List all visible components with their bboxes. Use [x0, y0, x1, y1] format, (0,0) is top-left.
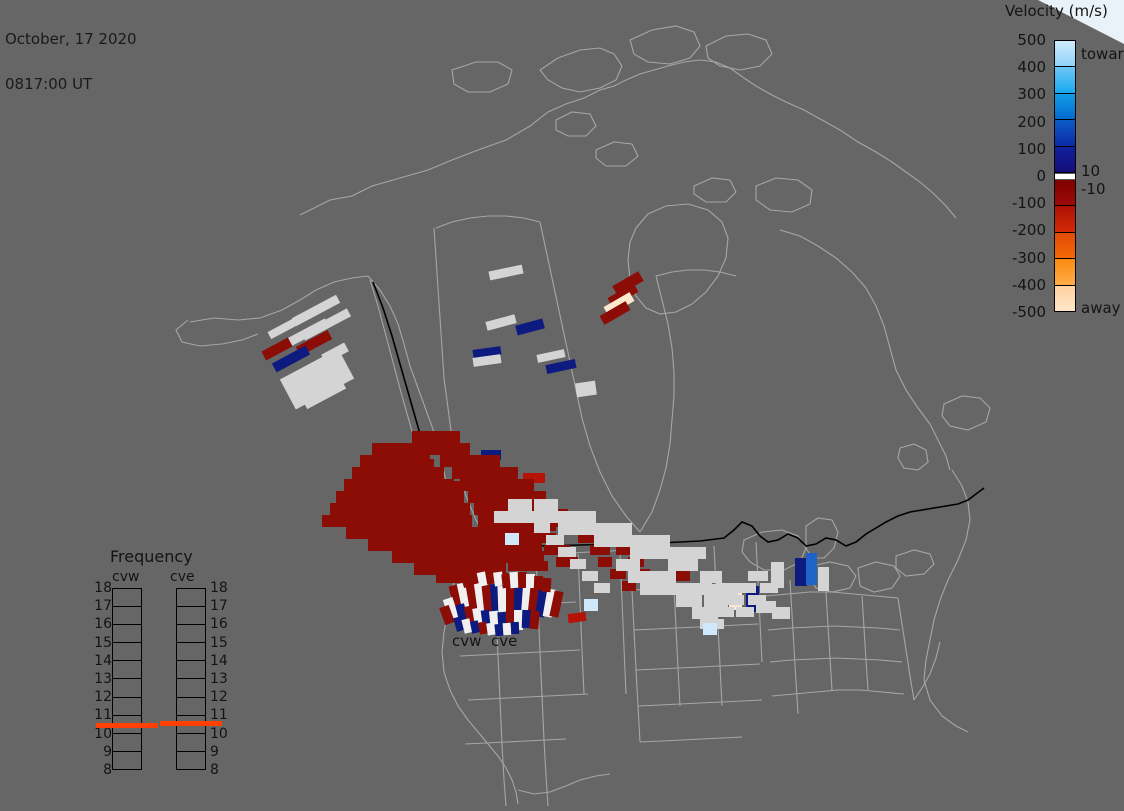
- radar-cell: [584, 599, 598, 611]
- frequency-cell: [177, 752, 205, 769]
- velocity-band-3: [1055, 120, 1075, 146]
- frequency-column-header-cve: cve: [170, 570, 195, 584]
- radar-cell: [545, 359, 576, 374]
- velocity-band-8: [1055, 259, 1075, 285]
- frequency-column-cve: [176, 588, 206, 770]
- radar-cell: [818, 567, 829, 591]
- frequency-cell: [177, 734, 205, 752]
- radar-cell: [570, 511, 596, 523]
- velocity-band-1: [1055, 67, 1075, 93]
- radar-map-canvas: October, 17 2020 0817:00 UT cvw cve Velo…: [0, 0, 1124, 811]
- velocity-zero-lower-label: -10: [1081, 182, 1106, 197]
- radar-cell: [520, 511, 546, 523]
- radar-cell: [598, 557, 612, 567]
- frequency-tick-13: 13: [210, 672, 228, 686]
- timestamp-date: October, 17 2020: [5, 32, 137, 47]
- radar-cell: [680, 547, 706, 559]
- frequency-tick-13: 13: [94, 672, 112, 686]
- frequency-tick-16: 16: [210, 617, 228, 631]
- frequency-cell: [177, 698, 205, 716]
- frequency-cell: [113, 643, 141, 661]
- radar-cell: [618, 535, 646, 547]
- frequency-tick-9: 9: [103, 745, 112, 759]
- timestamp: October, 17 2020 0817:00 UT: [5, 2, 137, 122]
- radar-cell: [358, 497, 378, 507]
- radar-cell: [440, 455, 500, 467]
- frequency-tick-17: 17: [210, 599, 228, 613]
- frequency-tick-14: 14: [210, 654, 228, 668]
- timestamp-time: 0817:00 UT: [5, 77, 137, 92]
- radar-cell: [606, 523, 632, 535]
- velocity-away-label: away: [1081, 301, 1121, 316]
- frequency-cell: [113, 589, 141, 607]
- frequency-column-cvw: [112, 588, 142, 770]
- radar-cell: [380, 489, 404, 499]
- velocity-band-4: [1055, 147, 1075, 173]
- radar-cell: [676, 595, 702, 607]
- frequency-cell: [177, 589, 205, 607]
- velocity-toward-label: toward: [1081, 47, 1124, 62]
- frequency-tick-18: 18: [94, 581, 112, 595]
- radar-cell: [386, 527, 402, 537]
- frequency-tick-12: 12: [94, 690, 112, 704]
- radar-cell: [340, 507, 358, 517]
- radar-cell: [558, 547, 576, 557]
- radar-cell: [546, 535, 564, 545]
- radar-cell: [410, 537, 428, 547]
- radar-cell: [716, 583, 738, 595]
- velocity-band-9: [1055, 286, 1075, 311]
- velocity-band-0: [1055, 41, 1075, 67]
- radar-cell: [664, 583, 690, 595]
- radar-cell: [368, 539, 498, 551]
- frequency-tick-11: 11: [94, 708, 112, 722]
- frequency-ticks-right: 18171615141312111098: [210, 588, 236, 770]
- velocity-colorbar: [1054, 40, 1076, 312]
- radar-cell: [534, 499, 558, 511]
- frequency-cell: [113, 607, 141, 625]
- frequency-tick-10: 10: [210, 727, 228, 741]
- frequency-tick-8: 8: [103, 763, 112, 777]
- frequency-cell: [113, 752, 141, 769]
- site-label-cvw: cvw: [452, 634, 481, 649]
- radar-cell: [515, 319, 545, 336]
- frequency-marker-cvw: [96, 723, 158, 728]
- velocity-band-7: [1055, 233, 1075, 259]
- radar-cell: [688, 583, 712, 595]
- velocity-band-6: [1055, 206, 1075, 232]
- frequency-ticks-left: 18171615141312111098: [86, 588, 112, 770]
- frequency-tick-17: 17: [94, 599, 112, 613]
- frequency-tick-15: 15: [94, 636, 112, 650]
- velocity-legend-title: Velocity (m/s): [1005, 2, 1108, 20]
- velocity-band-2: [1055, 94, 1075, 120]
- frequency-cell: [177, 607, 205, 625]
- radar-cell: [772, 607, 790, 619]
- frequency-tick-18: 18: [210, 581, 228, 595]
- radar-cell: [724, 595, 744, 605]
- site-label-cve: cve: [491, 634, 517, 649]
- radar-cell: [806, 553, 817, 585]
- frequency-tick-14: 14: [94, 654, 112, 668]
- radar-cell: [712, 607, 734, 617]
- frequency-tick-12: 12: [210, 690, 228, 704]
- radar-cell: [542, 578, 552, 593]
- velocity-band-5: [1055, 180, 1075, 206]
- radar-cell: [628, 571, 654, 583]
- radar-cell: [485, 314, 516, 330]
- frequency-cell: [113, 679, 141, 697]
- radar-cell: [736, 607, 754, 617]
- radar-cell: [412, 431, 460, 443]
- radar-cell: [700, 571, 722, 583]
- radar-cell: [676, 571, 690, 581]
- frequency-cell: [177, 661, 205, 679]
- velocity-zero-upper-label: 10: [1081, 164, 1100, 179]
- radar-cell: [594, 583, 610, 593]
- radar-cell: [460, 479, 534, 491]
- frequency-tick-15: 15: [210, 636, 228, 650]
- frequency-marker-cve: [160, 721, 222, 726]
- frequency-cell: [113, 698, 141, 716]
- frequency-tick-9: 9: [210, 745, 219, 759]
- radar-cell: [652, 571, 676, 583]
- radar-cell: [508, 499, 532, 511]
- frequency-column-header-cvw: cvw: [112, 570, 139, 584]
- radar-cell: [534, 523, 550, 533]
- radar-cell: [748, 571, 768, 581]
- radar-cell: [644, 535, 670, 547]
- radar-cell: [640, 583, 666, 595]
- radar-cell: [378, 459, 434, 471]
- radar-cell: [736, 583, 756, 593]
- radar-cell: [582, 571, 598, 581]
- frequency-cell: [113, 625, 141, 643]
- velocity-zero-band: [1055, 173, 1075, 180]
- frequency-cell: [113, 734, 141, 752]
- radar-cell: [392, 551, 504, 563]
- radar-cell: [703, 623, 717, 635]
- frequency-tick-10: 10: [94, 727, 112, 741]
- radar-cell: [575, 381, 597, 398]
- frequency-cell: [177, 679, 205, 697]
- radar-cell: [452, 467, 518, 479]
- frequency-cell: [177, 643, 205, 661]
- radar-cell: [505, 533, 519, 545]
- radar-cell: [616, 559, 640, 571]
- radar-cell: [494, 511, 520, 523]
- radar-cell: [508, 561, 548, 571]
- radar-cell: [488, 265, 523, 281]
- radar-cell: [668, 559, 698, 571]
- frequency-legend-title: Frequency: [110, 549, 193, 565]
- frequency-cell: [113, 661, 141, 679]
- radar-cell: [426, 443, 470, 455]
- frequency-cell: [177, 625, 205, 643]
- radar-scatter-layer: [0, 0, 1124, 811]
- radar-cell: [760, 583, 778, 593]
- frequency-tick-8: 8: [210, 763, 219, 777]
- frequency-tick-16: 16: [94, 617, 112, 631]
- radar-cell: [570, 559, 586, 569]
- radar-cell: [567, 612, 586, 623]
- radar-cell: [529, 611, 539, 630]
